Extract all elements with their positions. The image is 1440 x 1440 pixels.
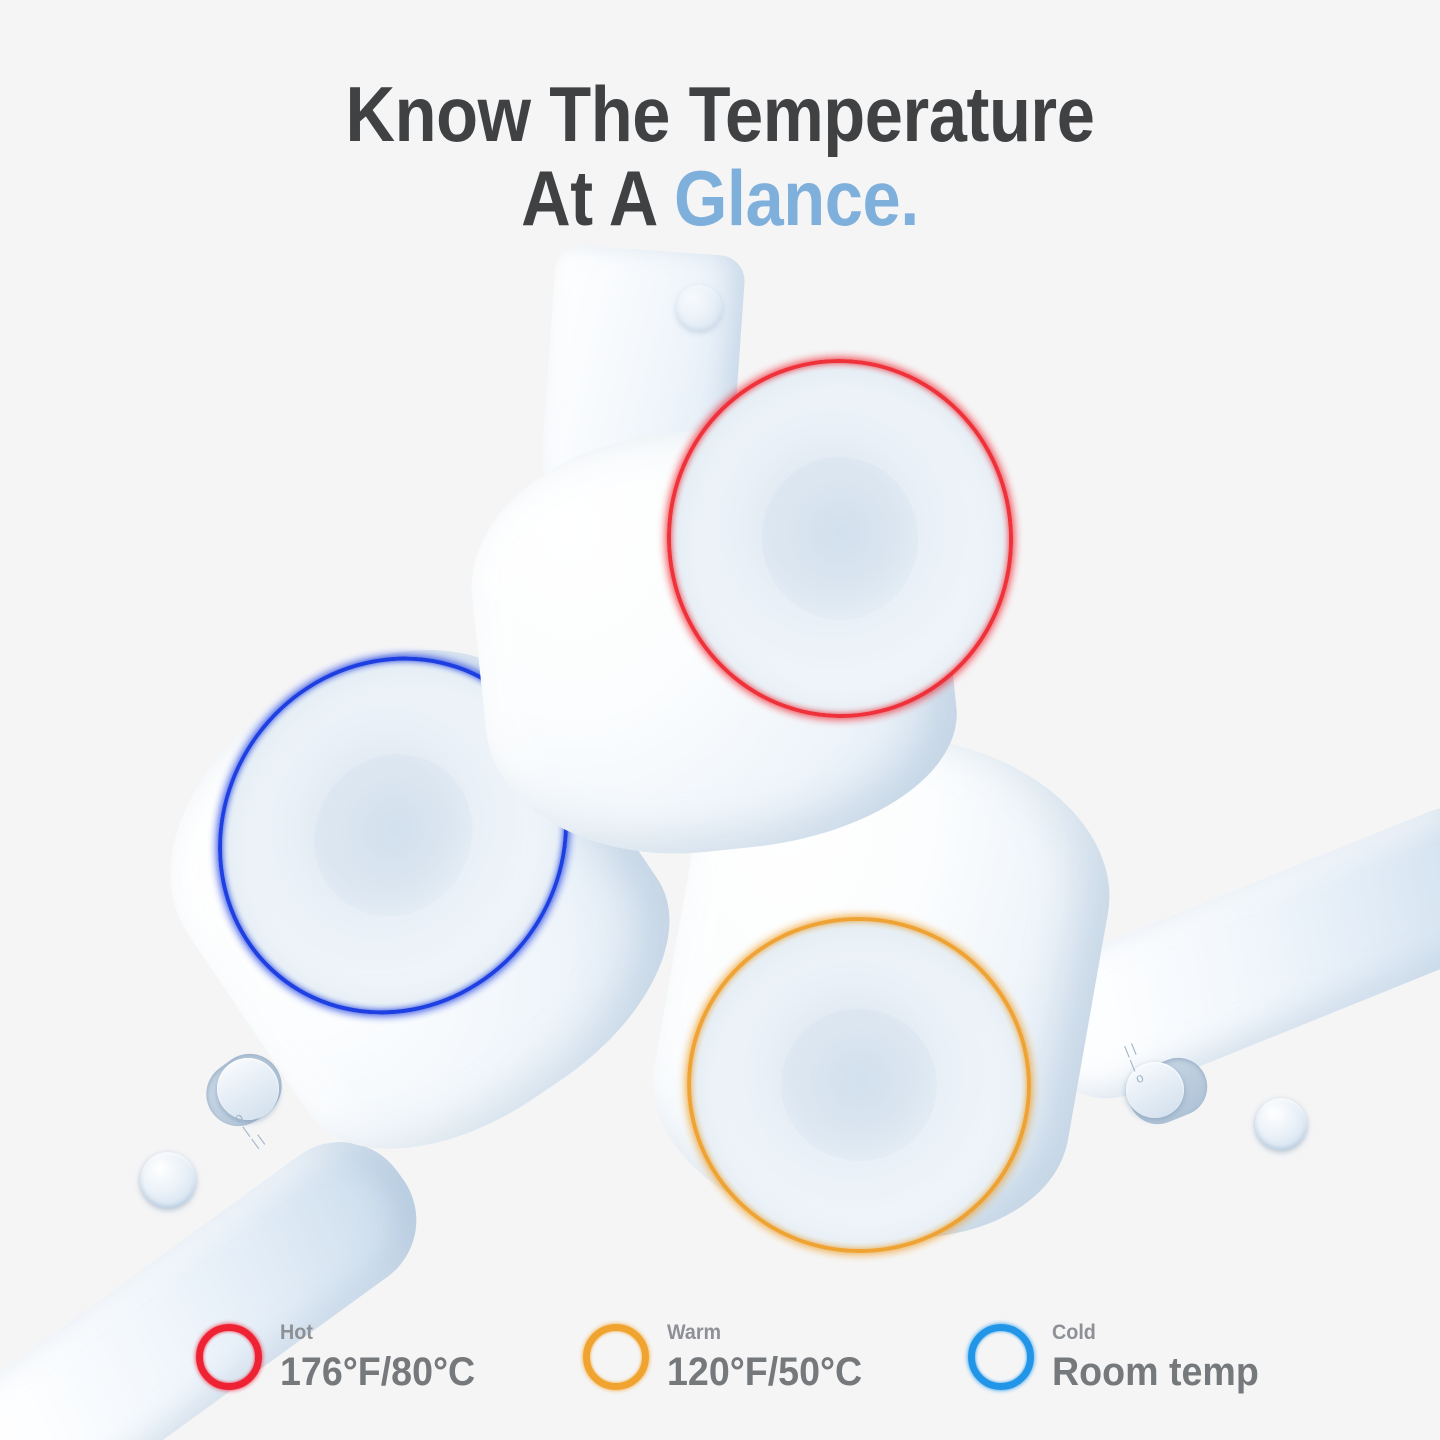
legend-ring-cold-icon bbox=[968, 1324, 1034, 1390]
legend-label-hot: Hot bbox=[280, 1322, 475, 1343]
legend-item-cold: Cold Room temp bbox=[968, 1322, 1272, 1392]
legend-text-hot: Hot 176°F/80°C bbox=[280, 1322, 488, 1392]
headline-line-2: At A Glance. bbox=[86, 156, 1353, 240]
legend-item-hot: Hot 176°F/80°C bbox=[196, 1322, 488, 1392]
legend-text-cold: Cold Room temp bbox=[1052, 1322, 1272, 1392]
legend-value-hot: 176°F/80°C bbox=[280, 1352, 475, 1392]
temperature-legend: Hot 176°F/80°C Warm 120°F/50°C Cold Room… bbox=[0, 1300, 1440, 1420]
legend-value-warm: 120°F/50°C bbox=[667, 1352, 862, 1392]
legend-label-warm: Warm bbox=[667, 1322, 862, 1343]
legend-text-warm: Warm 120°F/50°C bbox=[667, 1322, 875, 1392]
legend-ring-warm-icon bbox=[583, 1324, 649, 1390]
product-marketing-image: Know The Temperature At A Glance. o | || bbox=[0, 0, 1440, 1440]
cool-shot-button-right[interactable] bbox=[1255, 1098, 1307, 1150]
headline-line-2-prefix: At A bbox=[521, 154, 674, 242]
page-title: Know The Temperature At A Glance. bbox=[86, 72, 1353, 240]
cool-shot-button-left[interactable] bbox=[140, 1152, 196, 1208]
headline-line-1: Know The Temperature bbox=[86, 72, 1353, 156]
legend-label-cold: Cold bbox=[1052, 1322, 1259, 1343]
legend-item-warm: Warm 120°F/50°C bbox=[583, 1322, 875, 1392]
legend-ring-hot-icon bbox=[196, 1324, 262, 1390]
legend-value-cold: Room temp bbox=[1052, 1352, 1259, 1392]
cool-shot-button-top[interactable] bbox=[676, 285, 722, 331]
headline-accent-word: Glance. bbox=[674, 154, 919, 242]
